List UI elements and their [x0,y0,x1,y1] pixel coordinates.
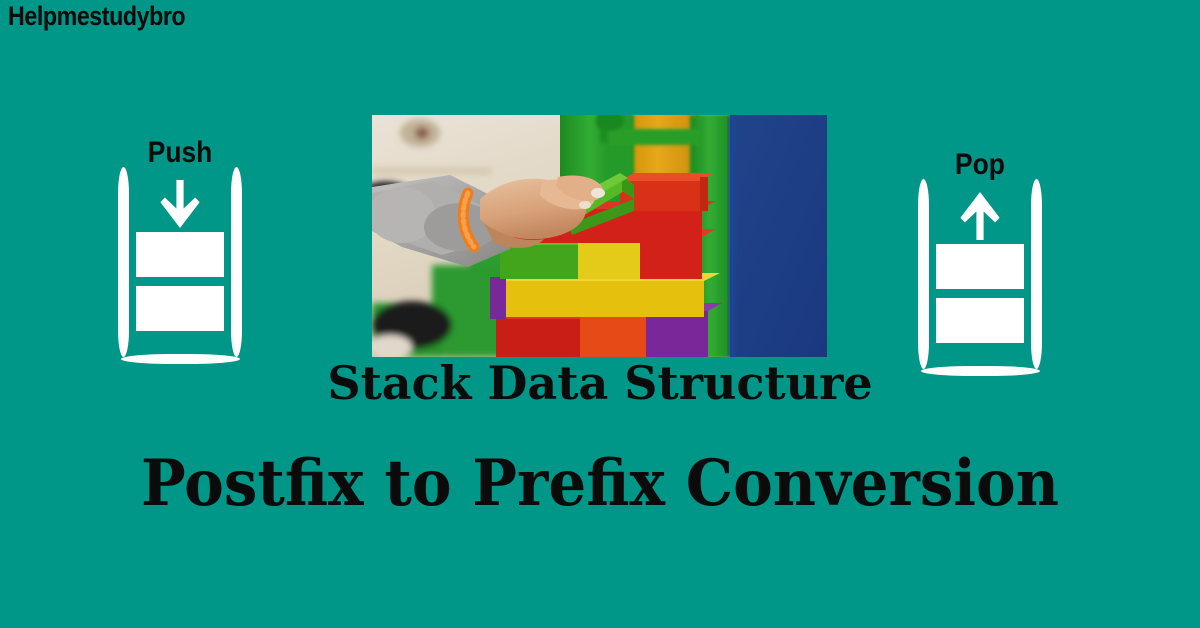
site-watermark: Helpmestudybro [8,3,185,30]
stack-cell [936,244,1024,289]
stack-cell [136,286,224,331]
stack-cell [936,298,1024,343]
push-label: Push [114,138,246,168]
stack-rail-left [118,167,129,357]
blocks-photo [372,115,827,357]
stack-rail-right [231,167,242,357]
page-title: Postfix to Prefix Conversion [42,452,1158,516]
push-stack-diagram: Push [105,138,255,368]
stack-rail-left [918,179,929,369]
arrow-up-icon [957,192,1003,240]
pop-stack-diagram: Pop [905,150,1055,380]
poster-canvas: Helpmestudybro Push Pop [0,0,1200,628]
stack-rail-right [1031,179,1042,369]
subtitle-text: Stack Data Structure [0,360,1200,406]
arrow-down-icon [157,180,203,228]
pop-label: Pop [914,150,1046,180]
stack-cell [136,232,224,277]
